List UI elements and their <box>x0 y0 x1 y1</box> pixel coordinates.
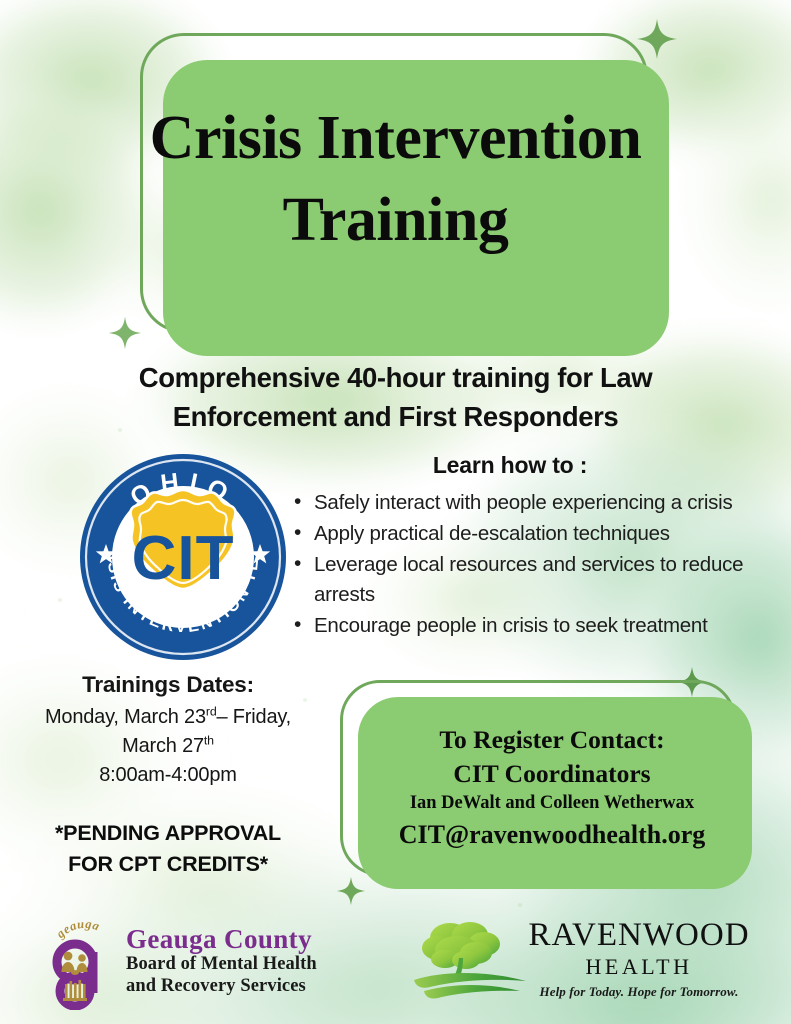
ravenwood-health-logo: RAVENWOOD HEALTH Help for Today. Hope fo… <box>412 912 752 1012</box>
geauga-subtitle-line-1: Board of Mental Health <box>126 954 348 976</box>
sparkle-icon <box>108 316 142 355</box>
subtitle-line-1: Comprehensive 40-hour training for Law <box>60 358 731 397</box>
geauga-title: Geauga County <box>126 924 348 954</box>
sparkle-icon <box>336 876 366 911</box>
list-item: Apply practical de-escalation techniques <box>292 519 770 549</box>
ohio-cit-logo-svg: OHIO CRISIS INTERVENTION TEAM CIT <box>78 452 288 662</box>
list-item: Leverage local resources and services to… <box>292 550 770 610</box>
dates-line2-a: March 27 <box>122 735 204 757</box>
training-dates-lines: Monday, March 23rd– Friday, March 27th 8… <box>8 703 328 789</box>
ohio-cit-logo: OHIO CRISIS INTERVENTION TEAM CIT <box>78 452 288 662</box>
ravenwood-name: RAVENWOOD <box>524 918 754 953</box>
geauga-script-text: geauga <box>53 918 102 942</box>
training-dates-block: Trainings Dates: Monday, March 23rd– Fri… <box>8 672 328 789</box>
geauga-wordmark: Geauga County Board of Mental Health and… <box>126 924 348 998</box>
geauga-monogram-icon: geauga <box>44 918 122 1010</box>
geauga-subtitle: Board of Mental Health and Recovery Serv… <box>126 954 348 998</box>
title-line-2: Training <box>0 180 791 262</box>
title-line-1: Crisis Intervention <box>0 98 791 180</box>
ravenwood-tree-svg <box>412 916 532 1002</box>
list-item: Safely interact with people experiencing… <box>292 488 770 518</box>
geauga-county-logo: geauga <box>44 918 344 1010</box>
list-item: Encourage people in crisis to seek treat… <box>292 611 770 641</box>
ravenwood-health-word: HEALTH <box>524 954 754 980</box>
dates-line2-sup: th <box>204 733 214 747</box>
page-title: Crisis Intervention Training <box>0 98 791 262</box>
cit-logo-badge-text: CIT <box>132 524 235 593</box>
register-line-1: To Register Contact: <box>352 724 752 757</box>
geauga-subtitle-line-2: and Recovery Services <box>126 976 348 998</box>
geauga-monogram-svg: geauga <box>44 918 122 1010</box>
training-dates-line-3: 8:00am-4:00pm <box>8 761 328 790</box>
pending-line-2: FOR CPT CREDITS* <box>8 849 328 880</box>
dates-line1-b: – Friday, <box>217 706 292 728</box>
register-line-3: Ian DeWalt and Colleen Wetherwax <box>352 790 752 818</box>
pending-line-1: *PENDING APPROVAL <box>8 818 328 849</box>
subtitle-line-2: Enforcement and First Responders <box>60 397 731 436</box>
register-email[interactable]: CIT@ravenwoodhealth.org <box>352 818 752 853</box>
dates-line1-a: Monday, March 23 <box>45 706 206 728</box>
ravenwood-tagline: Help for Today. Hope for Tomorrow. <box>524 984 754 1000</box>
subtitle: Comprehensive 40-hour training for Law E… <box>60 358 731 436</box>
flyer-page: Crisis Intervention Training Comprehensi… <box>0 0 791 1024</box>
learn-how-to-list: Safely interact with people experiencing… <box>292 488 770 642</box>
training-dates-line-2: March 27th <box>8 732 328 761</box>
training-dates-heading: Trainings Dates: <box>8 672 328 698</box>
tree-icon <box>412 916 532 1002</box>
register-contact-block: To Register Contact: CIT Coordinators Ia… <box>352 724 752 852</box>
pending-approval-note: *PENDING APPROVAL FOR CPT CREDITS* <box>8 818 328 880</box>
training-dates-line-1: Monday, March 23rd– Friday, <box>8 703 328 732</box>
learn-how-to-heading: Learn how to : <box>290 452 730 479</box>
family-figures-icon <box>62 952 88 975</box>
ravenwood-wordmark: RAVENWOOD HEALTH Help for Today. Hope fo… <box>524 918 754 1000</box>
register-line-2: CIT Coordinators <box>352 757 752 790</box>
dates-line1-sup: rd <box>206 704 217 718</box>
